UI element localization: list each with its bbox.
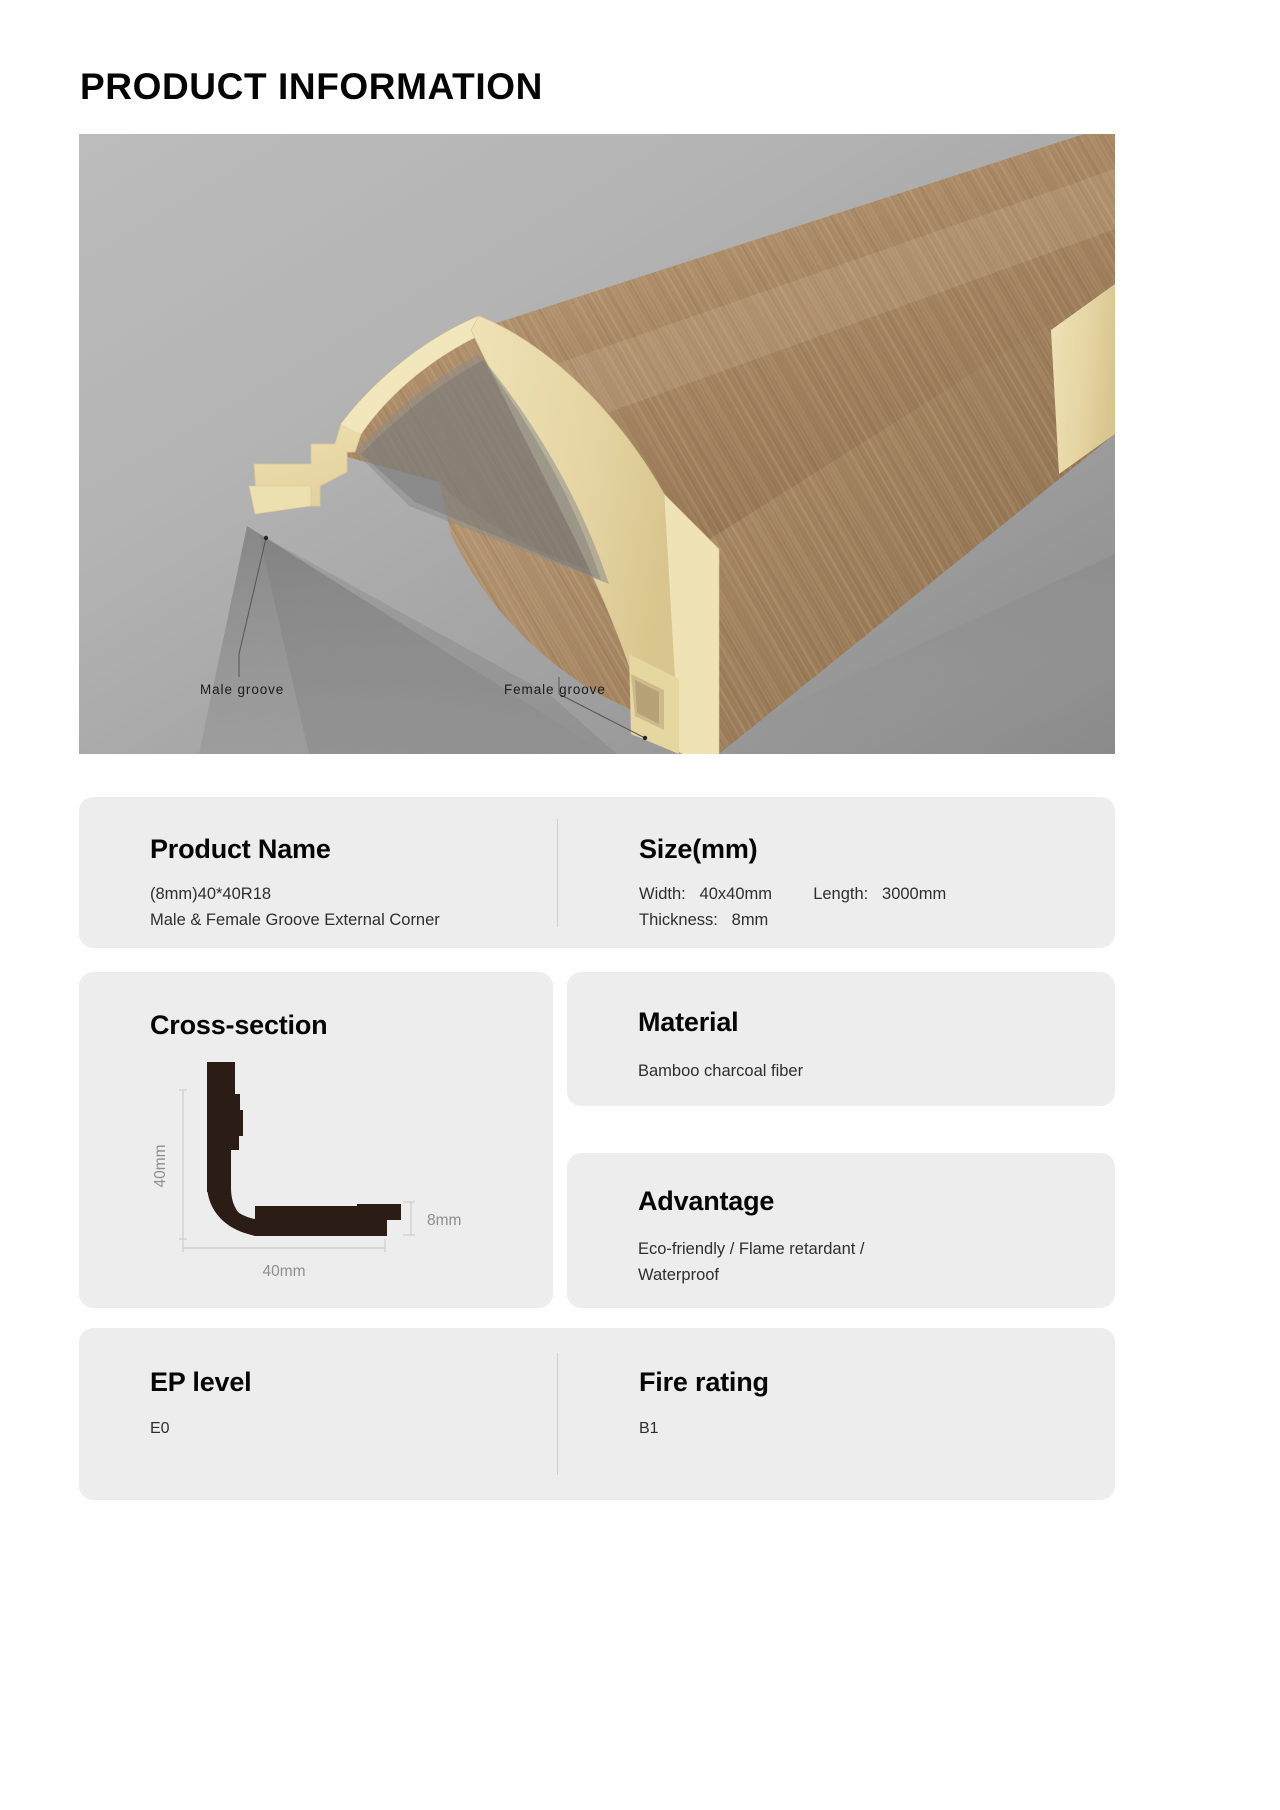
- product-name-description: Male & Female Groove External Corner: [150, 908, 440, 934]
- product-photo-render: [79, 134, 1115, 754]
- cross-section-diagram: 40mm 40mm 8mm: [135, 1054, 495, 1286]
- fire-rating-value: B1: [639, 1417, 769, 1442]
- product-information-page: PRODUCT INFORMATION: [0, 0, 1280, 1810]
- product-name-code: (8mm)40*40R18: [150, 882, 440, 908]
- fire-rating-title: Fire rating: [639, 1367, 769, 1398]
- dim-height-label: 40mm: [152, 1144, 169, 1187]
- material-value: Bamboo charcoal fiber: [638, 1059, 803, 1085]
- advantage-value: Eco-friendly / Flame retardant / Waterpr…: [638, 1237, 865, 1288]
- dim-width-label: 40mm: [262, 1263, 305, 1280]
- product-photo: Male groove Female groove: [79, 134, 1115, 754]
- label-male-groove: Male groove: [200, 682, 284, 697]
- size-length-label: Length:: [813, 885, 868, 903]
- cross-section-title: Cross-section: [150, 1010, 327, 1041]
- size-title: Size(mm): [639, 834, 946, 865]
- card-divider: [557, 819, 558, 927]
- size-line-1: Width: 40x40mm Length: 3000mm: [639, 882, 946, 908]
- size-width-label: Width:: [639, 885, 686, 903]
- card-material: Material Bamboo charcoal fiber: [567, 972, 1115, 1106]
- label-female-groove: Female groove: [504, 682, 606, 697]
- card-divider: [557, 1353, 558, 1475]
- ep-level-value: E0: [150, 1417, 251, 1442]
- product-name-title: Product Name: [150, 834, 440, 865]
- ep-level-block: EP level E0: [150, 1367, 251, 1442]
- fire-rating-block: Fire rating B1: [639, 1367, 769, 1442]
- size-line-2: Thickness: 8mm: [639, 908, 946, 934]
- card-ep-fire: EP level E0 Fire rating B1: [79, 1328, 1115, 1500]
- card-cross-section: Cross-section: [79, 972, 553, 1308]
- dim-thickness-label: 8mm: [427, 1212, 461, 1229]
- ep-level-title: EP level: [150, 1367, 251, 1398]
- size-thickness-label: Thickness:: [639, 911, 718, 929]
- product-name-block: Product Name (8mm)40*40R18 Male & Female…: [150, 834, 440, 933]
- size-block: Size(mm) Width: 40x40mm Length: 3000mm T…: [639, 834, 946, 933]
- leader-dot-male: [264, 536, 268, 540]
- leader-dot-female: [643, 736, 647, 740]
- page-title: PRODUCT INFORMATION: [80, 67, 543, 108]
- size-length-value: 3000mm: [882, 885, 946, 903]
- material-title: Material: [638, 1007, 738, 1038]
- size-thickness-value: 8mm: [732, 911, 769, 929]
- card-advantage: Advantage Eco-friendly / Flame retardant…: [567, 1153, 1115, 1308]
- card-product-name-size: Product Name (8mm)40*40R18 Male & Female…: [79, 797, 1115, 948]
- advantage-title: Advantage: [638, 1186, 774, 1217]
- size-width-value: 40x40mm: [700, 885, 772, 903]
